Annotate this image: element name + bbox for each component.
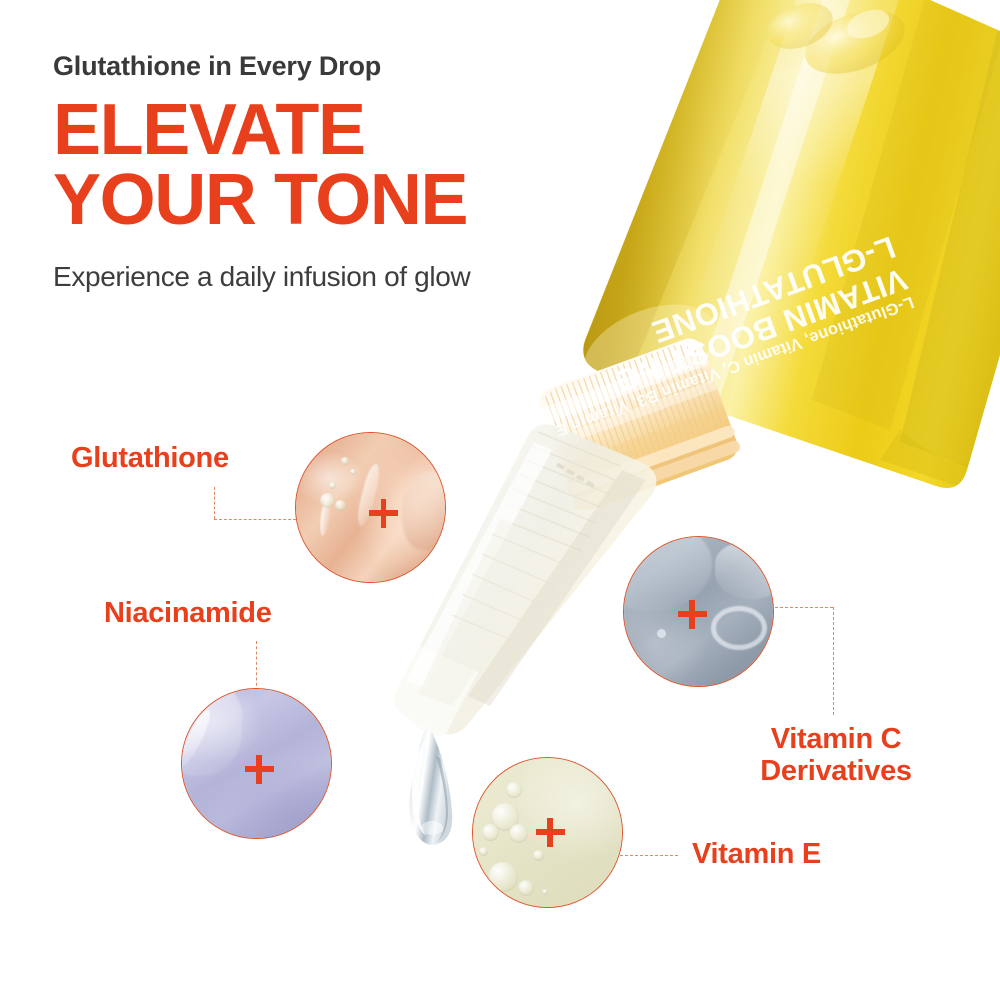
hero-headline-line-1: ELEVATE (53, 90, 365, 170)
plus-marker-vitamin-e (536, 818, 565, 847)
bottle-cap (532, 334, 743, 515)
bottle-label-main-line1: VITAMIN BOOSTING (610, 261, 912, 399)
bubble (533, 850, 544, 861)
ingredient-swatch-vitamin-c[interactable] (623, 536, 774, 687)
connector-vitaminc-horizontal (765, 607, 833, 608)
ingredient-swatch-niacinamide[interactable] (181, 688, 332, 839)
hero-headline-line-2: YOUR TONE (53, 166, 653, 236)
bubble (542, 889, 548, 895)
hero-headline: ELEVATE YOUR TONE (53, 96, 653, 236)
bubble (509, 824, 528, 843)
connector-glutathione-vertical (214, 487, 215, 519)
ingredient-swatch-vitamin-e[interactable] (472, 757, 623, 908)
glutathione-gel-swirl (402, 472, 446, 550)
ingredient-label-niacinamide: Niacinamide (104, 597, 272, 629)
bubble (329, 482, 336, 489)
bubble (488, 862, 518, 892)
connector-niacinamide-vertical (256, 641, 257, 691)
hero-subheadline: Experience a daily infusion of glow (53, 261, 653, 293)
connector-vitaminc-vertical (833, 607, 834, 715)
ingredient-swatch-glutathione[interactable] (295, 432, 446, 583)
hero-eyebrow: Glutathione in Every Drop (53, 52, 653, 82)
connector-glutathione-horizontal (214, 519, 306, 520)
bubble (482, 824, 499, 841)
serum-droplet (409, 728, 452, 845)
bubble (518, 880, 534, 896)
ingredient-label-vitamin-e: Vitamin E (692, 838, 821, 870)
bottle-label-sub: L-Glutathione, Vitamin C, Vitamin B3, Vi… (553, 293, 916, 440)
connector-vitamine-horizontal (620, 855, 678, 856)
ingredient-label-vitamin-c-line-1: Vitamin C (771, 723, 902, 755)
bubble (335, 500, 346, 511)
plus-marker-niacinamide (245, 755, 274, 784)
vitamin-c-gel-blob-right (715, 543, 774, 599)
bottle-label-main-line2: L-GLUTATHIONE (647, 229, 900, 350)
product-marketing-banner: VITAMIN BOOSTING L-GLUTATHIONE L-Glutath… (0, 0, 1000, 1000)
bubble (506, 782, 522, 798)
bubble (341, 457, 349, 465)
vitamin-c-gel-ring (711, 606, 767, 650)
ingredient-label-glutathione: Glutathione (71, 442, 229, 474)
ingredient-label-vitamin-c: Vitamin C Derivatives (746, 723, 926, 788)
hero-copy-block: Glutathione in Every Drop ELEVATE YOUR T… (53, 52, 653, 293)
bubble (350, 469, 356, 475)
plus-marker-vitamin-c (678, 600, 707, 629)
bubble (320, 493, 335, 508)
plus-marker-glutathione (369, 499, 398, 528)
ingredient-label-vitamin-c-line-2: Derivatives (760, 755, 911, 787)
